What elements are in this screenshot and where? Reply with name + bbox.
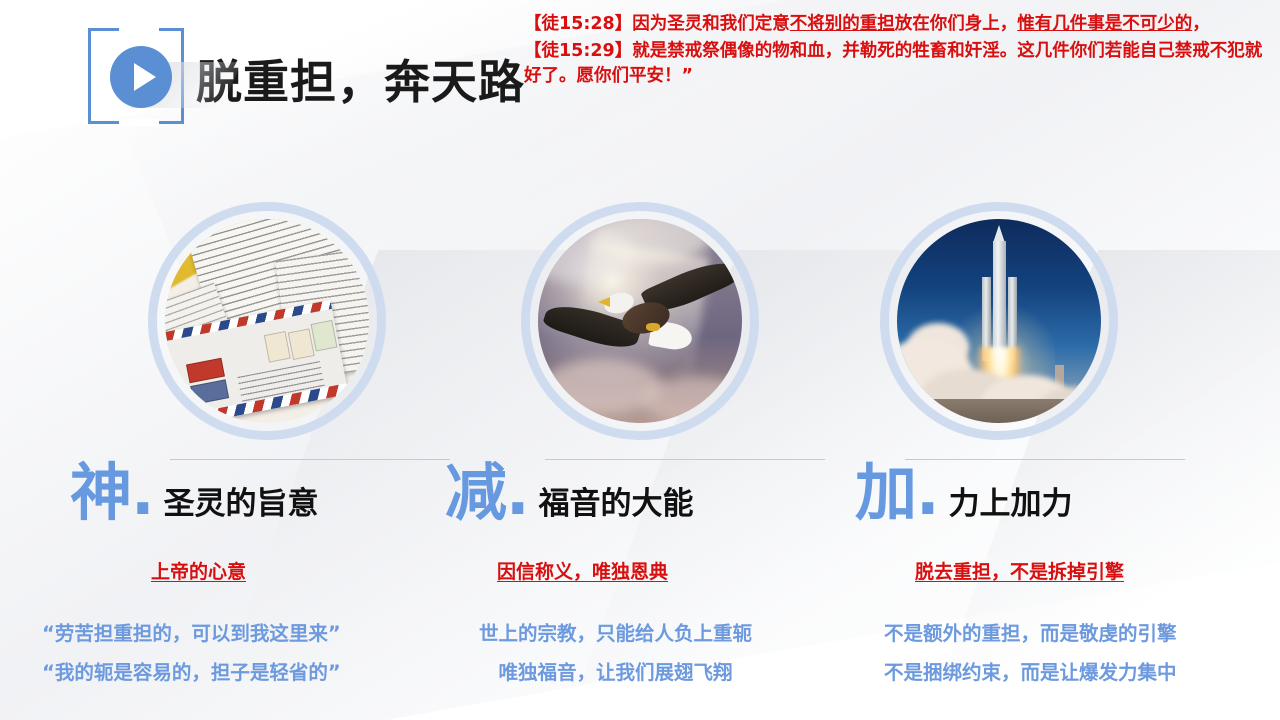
verse-1-reference: 【徒15:28】 [524,14,632,34]
column-heading-1: 神. 圣灵的旨意 [70,462,319,524]
column-2-sub-label: 福音的大能 [539,489,694,520]
handwritten-letters-photo [165,219,369,423]
soaring-eagle-photo [538,219,742,423]
column-1-body: “劳苦担重担的，可以到我这里来” “我的轭是容易的，担子是轻省的” [42,614,341,692]
column-2-line-1: 世上的宗教，只能给人负上重轭 [479,614,752,653]
circle-image-3 [880,202,1118,440]
column-3-sub-label: 力上加力 [949,489,1073,520]
divider-2 [545,459,825,460]
verse-1-part-2: 放在你们身上， [895,14,1018,34]
circle-image-1 [148,202,386,440]
verse-2-reference: 【徒15:29】 [524,41,632,61]
rocket-launch-photo [897,219,1101,423]
column-3-line-2: 不是捆绑约束，而是让爆发力集中 [884,653,1177,692]
verse-1-part-3: ， [1192,14,1210,34]
column-1-red-heading: 上帝的心意 [151,557,246,584]
presentation-slide: 脱重担，奔天路 【徒15:28】因为圣灵和我们定意不将别的重担放在你们身上，惟有… [0,0,1280,720]
column-2-big-label: 减. [445,462,529,524]
scripture-verse-1: 【徒15:28】因为圣灵和我们定意不将别的重担放在你们身上，惟有几件事是不可少的… [524,12,1276,37]
page-title: 脱重担，奔天路 [196,46,525,112]
column-2-red-heading: 因信称义，唯独恩典 [497,557,668,584]
column-2-body: 世上的宗教，只能给人负上重轭 唯独福音，让我们展翅飞翔 [479,614,752,692]
column-3-red-heading: 脱去重担，不是拆掉引擎 [915,557,1124,584]
play-triangle-icon [134,63,156,91]
column-heading-2: 减. 福音的大能 [445,462,694,524]
column-1-line-2: “我的轭是容易的，担子是轻省的” [42,653,341,692]
verse-2-text: 就是禁戒祭偶像的物和血，并勒死的牲畜和奸淫。这几件你们若能自己禁戒不犯就好了。愿… [524,41,1262,86]
verse-1-part-1: 因为圣灵和我们定意 [632,14,790,34]
column-2-line-2: 唯独福音，让我们展翅飞翔 [479,653,752,692]
divider-3 [905,459,1185,460]
circle-image-2 [521,202,759,440]
scripture-block: 【徒15:28】因为圣灵和我们定意不将别的重担放在你们身上，惟有几件事是不可少的… [524,12,1276,91]
column-1-line-1: “劳苦担重担的，可以到我这里来” [42,614,341,653]
divider-1 [170,459,450,460]
scripture-verse-2: 【徒15:29】就是禁戒祭偶像的物和血，并勒死的牲畜和奸淫。这几件你们若能自己禁… [524,39,1276,89]
column-3-body: 不是额外的重担，而是敬虔的引擎 不是捆绑约束，而是让爆发力集中 [884,614,1177,692]
column-1-sub-label: 圣灵的旨意 [164,489,319,520]
column-3-line-1: 不是额外的重担，而是敬虔的引擎 [884,614,1177,653]
play-button-icon[interactable] [110,46,172,108]
verse-1-underline-1: 不将别的重担 [790,14,895,34]
column-1-big-label: 神. [70,462,154,524]
column-heading-3: 加. 力上加力 [855,462,1073,524]
verse-1-underline-2: 惟有几件事是不可少的 [1017,14,1192,34]
column-3-big-label: 加. [855,462,939,524]
